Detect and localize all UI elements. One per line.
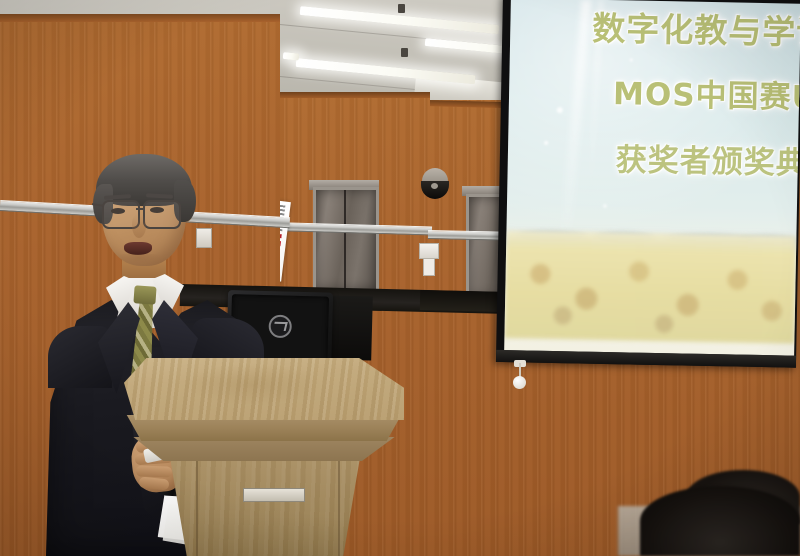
screen-pull-cord-ball[interactable] — [513, 376, 526, 389]
light-streak — [559, 0, 591, 249]
bokeh-dot — [544, 141, 548, 145]
dark-panel — [329, 295, 373, 360]
projection-screen-surface: 数字化教与学论坛 MOS中国赛UIC 获奖者颁奖典礼 — [504, 0, 800, 356]
ceiling-dropper — [401, 48, 408, 57]
sunflower-field-image — [504, 230, 796, 344]
projection-screen: 数字化教与学论坛 MOS中国赛UIC 获奖者颁奖典礼 — [496, 0, 800, 368]
podium-seam — [196, 460, 198, 556]
bokeh-dot — [630, 58, 633, 61]
slide-title-line-2: MOS中国赛UIC — [613, 68, 800, 119]
podium-wood-knot — [180, 363, 326, 406]
door-split-line — [344, 190, 346, 290]
podium-nameplate — [243, 488, 305, 502]
eyeglasses-lens-right — [143, 200, 181, 229]
wall-top-trim-middle — [270, 92, 430, 98]
wall-fixture — [423, 258, 435, 276]
finger — [136, 465, 172, 477]
nose — [132, 214, 146, 238]
wall-top-trim-left — [0, 14, 280, 22]
eyeglasses-bridge — [136, 208, 145, 210]
necktie-knot — [133, 285, 156, 304]
wall-sign — [419, 243, 439, 259]
elevator-door-middle[interactable] — [313, 187, 379, 293]
slide-title-line-1: 数字化教与学论坛 — [592, 2, 800, 56]
podium-seam — [338, 460, 340, 556]
bokeh-dot — [603, 204, 607, 208]
bokeh-dot — [557, 107, 563, 113]
chin-shadow — [116, 254, 162, 266]
jacket-shoulder-left — [48, 326, 112, 388]
security-camera-glint — [431, 183, 438, 189]
slide-title-line-3: 获奖者颁奖典礼 — [615, 134, 800, 185]
podium-top — [124, 358, 404, 420]
audience-head — [640, 486, 800, 556]
ceiling-dropper — [398, 4, 405, 13]
ceiling-light-fixture — [283, 52, 300, 61]
presentation-photo: 数字化教与学论坛 MOS中国赛UIC 获奖者颁奖典礼 — [0, 0, 800, 556]
